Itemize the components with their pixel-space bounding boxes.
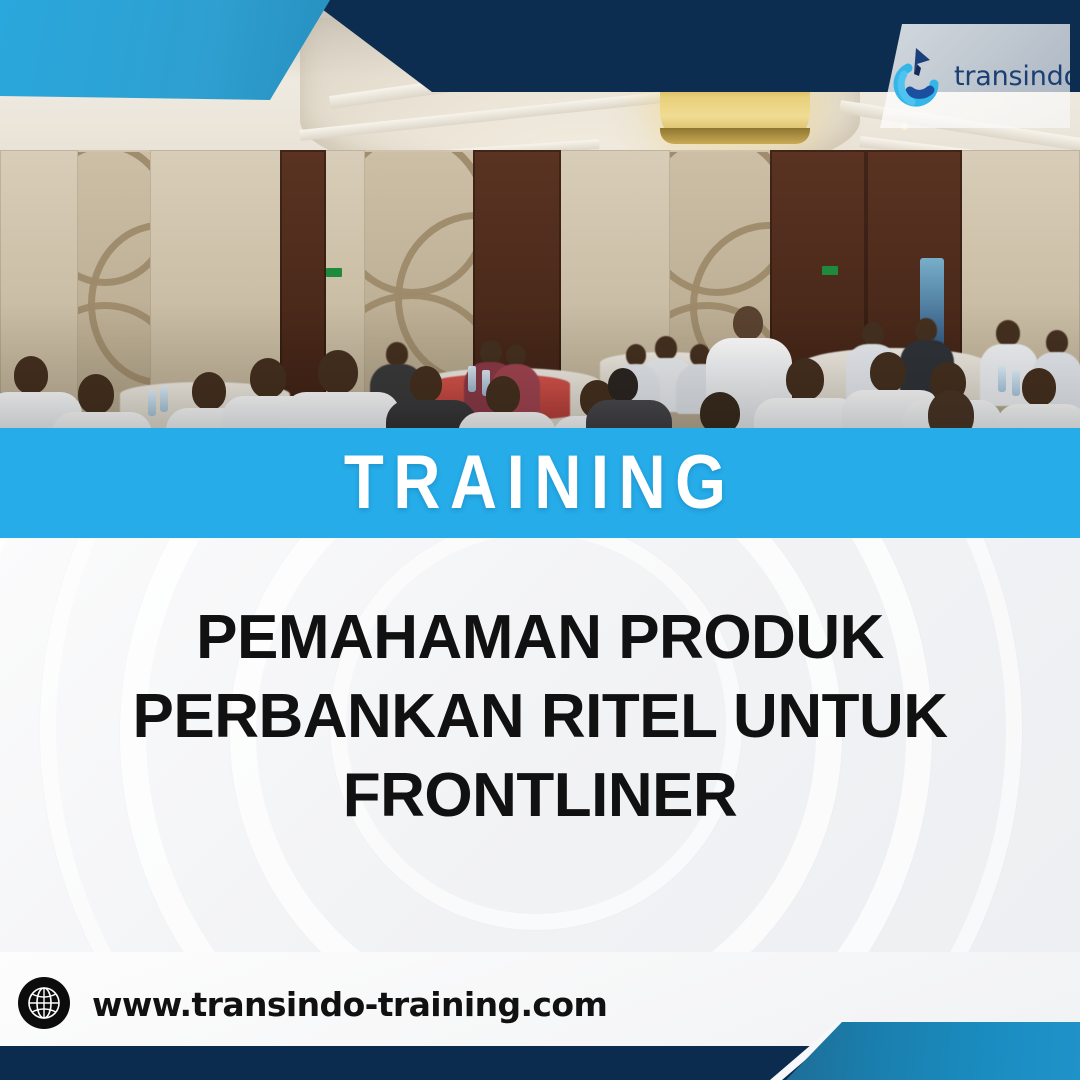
- brand-logo: transindo: [880, 24, 1080, 128]
- title-line-3: FRONTLINER: [0, 756, 1080, 835]
- training-poster: transindo TRAINING PEMAHAMAN PRODUK PERB…: [0, 0, 1080, 1080]
- transindo-swirl-logo: [890, 44, 948, 108]
- brand-name: transindo: [954, 61, 1080, 92]
- globe-icon: [18, 977, 70, 1029]
- training-label: TRAINING: [344, 445, 736, 521]
- title-line-2: PERBANKAN RITEL UNTUK: [0, 677, 1080, 756]
- title-line-1: PEMAHAMAN PRODUK: [0, 598, 1080, 677]
- poster-title: PEMAHAMAN PRODUK PERBANKAN RITEL UNTUK F…: [0, 598, 1080, 835]
- training-banner: TRAINING: [0, 428, 1080, 538]
- website-link[interactable]: www.transindo-training.com: [92, 985, 607, 1024]
